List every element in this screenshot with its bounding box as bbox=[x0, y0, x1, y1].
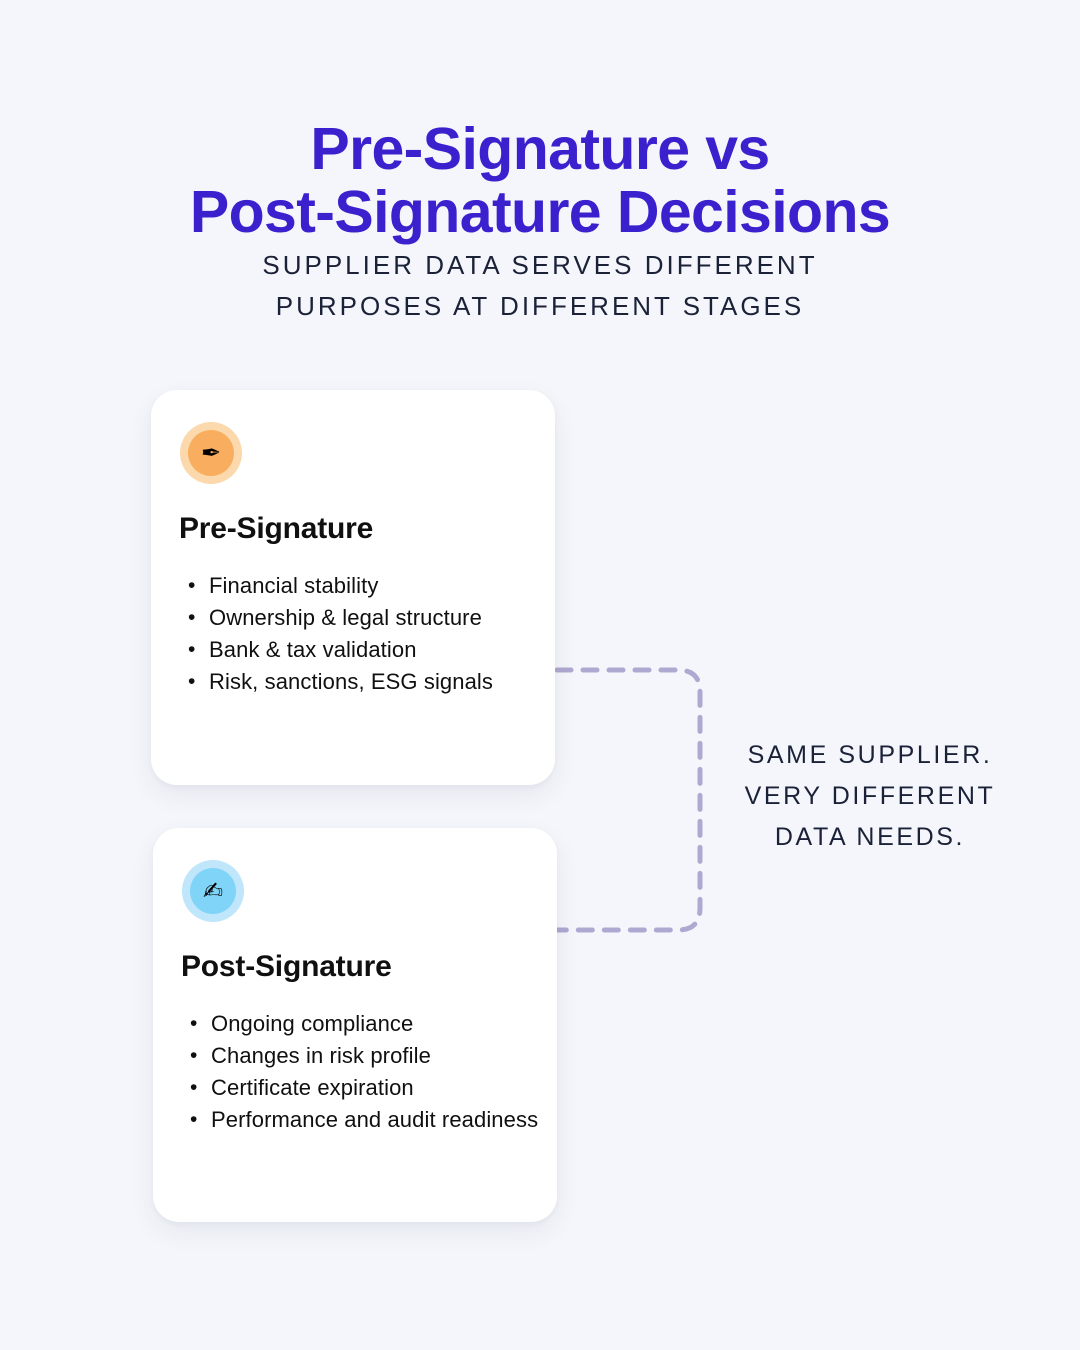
list-item: Financial stability bbox=[209, 570, 559, 601]
page-title: Pre-Signature vs Post-Signature Decision… bbox=[0, 118, 1080, 244]
side-note: SAME SUPPLIER. VERY DIFFERENT DATA NEEDS… bbox=[700, 735, 1040, 858]
writing-hand-icon-badge: ✍ bbox=[182, 860, 244, 922]
dashed-bracket-connector bbox=[548, 650, 718, 950]
list-item: Certificate expiration bbox=[211, 1072, 561, 1103]
card-pre-signature-bullet-list: Financial stability Ownership & legal st… bbox=[181, 570, 559, 698]
list-item: Ongoing compliance bbox=[211, 1008, 561, 1039]
page-title-line-1: Pre-Signature vs bbox=[0, 118, 1080, 181]
infographic-canvas: Pre-Signature vs Post-Signature Decision… bbox=[0, 0, 1080, 1350]
page-subtitle: SUPPLIER DATA SERVES DIFFERENT PURPOSES … bbox=[0, 245, 1080, 327]
card-post-signature[interactable]: ✍ Post-Signature Ongoing compliance Chan… bbox=[153, 828, 557, 1222]
pen-icon: ✒ bbox=[201, 441, 221, 465]
page-title-line-2: Post-Signature Decisions bbox=[0, 181, 1080, 244]
list-item: Bank & tax validation bbox=[209, 634, 559, 665]
card-pre-signature-heading: Pre-Signature bbox=[179, 512, 373, 546]
list-item: Ownership & legal structure bbox=[209, 602, 559, 633]
side-note-line-2: VERY DIFFERENT bbox=[700, 776, 1040, 817]
writing-hand-icon-circle: ✍ bbox=[190, 868, 236, 914]
card-post-signature-bullet-list: Ongoing compliance Changes in risk profi… bbox=[183, 1008, 561, 1136]
page-subtitle-line-1: SUPPLIER DATA SERVES DIFFERENT bbox=[0, 245, 1080, 286]
page-subtitle-line-2: PURPOSES AT DIFFERENT STAGES bbox=[0, 286, 1080, 327]
list-item: Performance and audit readiness bbox=[211, 1104, 561, 1135]
pen-icon-circle: ✒ bbox=[188, 430, 234, 476]
card-pre-signature[interactable]: ✒ Pre-Signature Financial stability Owne… bbox=[151, 390, 555, 785]
list-item: Risk, sanctions, ESG signals bbox=[209, 666, 559, 697]
pen-icon-badge: ✒ bbox=[180, 422, 242, 484]
connector-path bbox=[557, 670, 700, 930]
writing-hand-icon: ✍ bbox=[203, 879, 223, 903]
side-note-line-3: DATA NEEDS. bbox=[700, 817, 1040, 858]
card-post-signature-heading: Post-Signature bbox=[181, 950, 392, 984]
list-item: Changes in risk profile bbox=[211, 1040, 561, 1071]
side-note-line-1: SAME SUPPLIER. bbox=[700, 735, 1040, 776]
